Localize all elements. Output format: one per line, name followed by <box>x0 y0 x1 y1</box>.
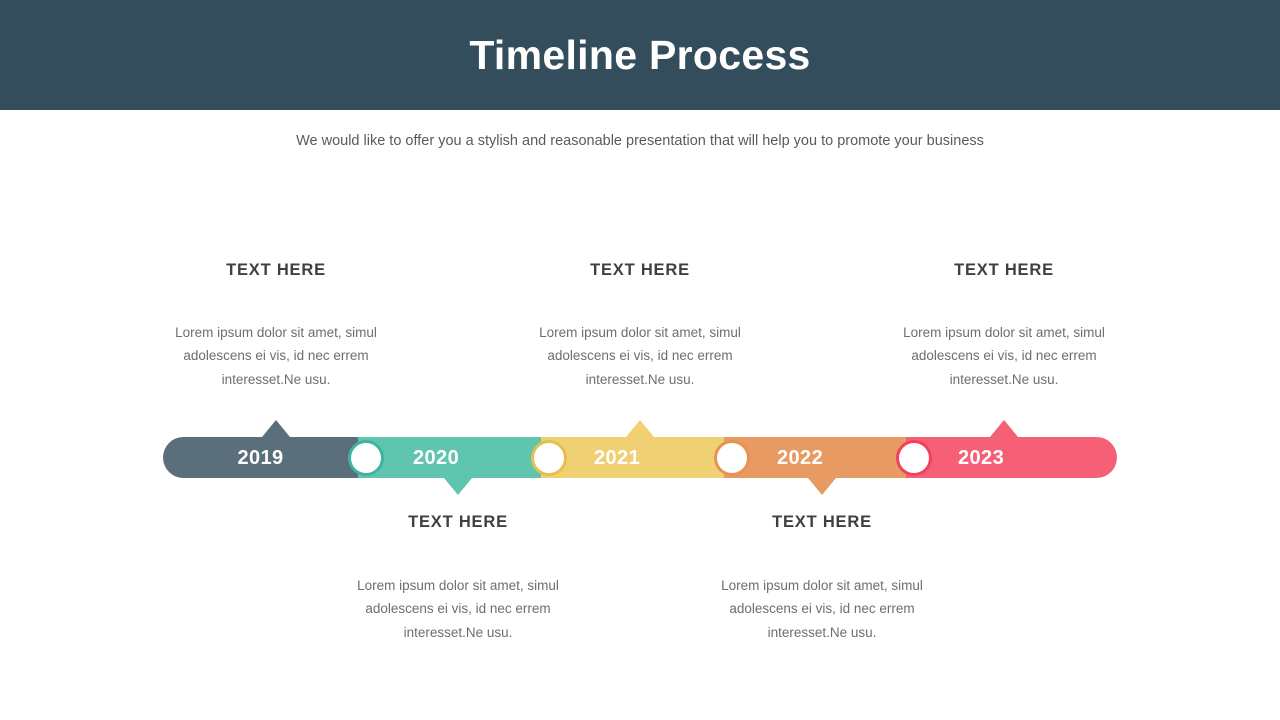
timeline-segment-2019[interactable]: 2019 <box>163 437 358 478</box>
timeline-node-2[interactable] <box>531 440 567 476</box>
page-title: Timeline Process <box>469 35 810 76</box>
block-body-line: adolescens ei vis, id nec errem <box>183 348 368 363</box>
timeline-year-label: 2023 <box>958 448 1004 468</box>
timeline-year-label: 2020 <box>413 448 459 468</box>
block-body-line: Lorem ipsum dolor sit amet, simul <box>539 325 741 340</box>
block-title: TEXT HERE <box>520 262 760 279</box>
slide-subtitle: We would like to offer you a stylish and… <box>0 131 1280 151</box>
pointer-up-2023 <box>990 420 1018 437</box>
text-block-2019: TEXT HERE Lorem ipsum dolor sit amet, si… <box>156 262 396 391</box>
timeline-node-1[interactable] <box>348 440 384 476</box>
pointer-down-2022 <box>808 478 836 495</box>
pointer-down-2020 <box>444 478 472 495</box>
timeline-segment-2021[interactable]: 2021 <box>541 437 724 478</box>
block-body-line: Lorem ipsum dolor sit amet, simul <box>721 578 923 593</box>
block-title: TEXT HERE <box>338 514 578 531</box>
block-title: TEXT HERE <box>884 262 1124 279</box>
slide-header: Timeline Process <box>0 0 1280 110</box>
timeline-node-3[interactable] <box>714 440 750 476</box>
pointer-up-2019 <box>262 420 290 437</box>
text-block-2023: TEXT HERE Lorem ipsum dolor sit amet, si… <box>884 262 1124 391</box>
timeline-segment-2020[interactable]: 2020 <box>358 437 541 478</box>
block-body-line: Lorem ipsum dolor sit amet, simul <box>903 325 1105 340</box>
block-title: TEXT HERE <box>702 514 942 531</box>
block-body: Lorem ipsum dolor sit amet, simul adoles… <box>702 574 942 645</box>
block-body: Lorem ipsum dolor sit amet, simul adoles… <box>884 321 1124 392</box>
timeline: 2019 2020 2021 2022 2023 <box>163 437 1117 478</box>
pointer-up-2021 <box>626 420 654 437</box>
block-body: Lorem ipsum dolor sit amet, simul adoles… <box>338 574 578 645</box>
timeline-year-label: 2019 <box>237 448 283 468</box>
timeline-node-4[interactable] <box>896 440 932 476</box>
timeline-bar: 2019 2020 2021 2022 2023 <box>163 437 1117 478</box>
block-body-line: adolescens ei vis, id nec errem <box>729 601 914 616</box>
block-body: Lorem ipsum dolor sit amet, simul adoles… <box>520 321 760 392</box>
text-block-2021: TEXT HERE Lorem ipsum dolor sit amet, si… <box>520 262 760 391</box>
timeline-segment-2023[interactable]: 2023 <box>906 437 1117 478</box>
timeline-year-label: 2022 <box>777 448 823 468</box>
block-body-line: adolescens ei vis, id nec errem <box>547 348 732 363</box>
timeline-year-label: 2021 <box>594 448 640 468</box>
block-body-line: adolescens ei vis, id nec errem <box>911 348 1096 363</box>
block-body-line: interesset.Ne usu. <box>404 625 513 640</box>
text-block-2022: TEXT HERE Lorem ipsum dolor sit amet, si… <box>702 514 942 644</box>
block-body-line: Lorem ipsum dolor sit amet, simul <box>357 578 559 593</box>
timeline-segment-2022[interactable]: 2022 <box>724 437 906 478</box>
block-body: Lorem ipsum dolor sit amet, simul adoles… <box>156 321 396 392</box>
block-body-line: Lorem ipsum dolor sit amet, simul <box>175 325 377 340</box>
block-title: TEXT HERE <box>156 262 396 279</box>
block-body-line: interesset.Ne usu. <box>222 372 331 387</box>
block-body-line: interesset.Ne usu. <box>950 372 1059 387</box>
block-body-line: interesset.Ne usu. <box>586 372 695 387</box>
block-body-line: adolescens ei vis, id nec errem <box>365 601 550 616</box>
text-block-2020: TEXT HERE Lorem ipsum dolor sit amet, si… <box>338 514 578 644</box>
block-body-line: interesset.Ne usu. <box>768 625 877 640</box>
